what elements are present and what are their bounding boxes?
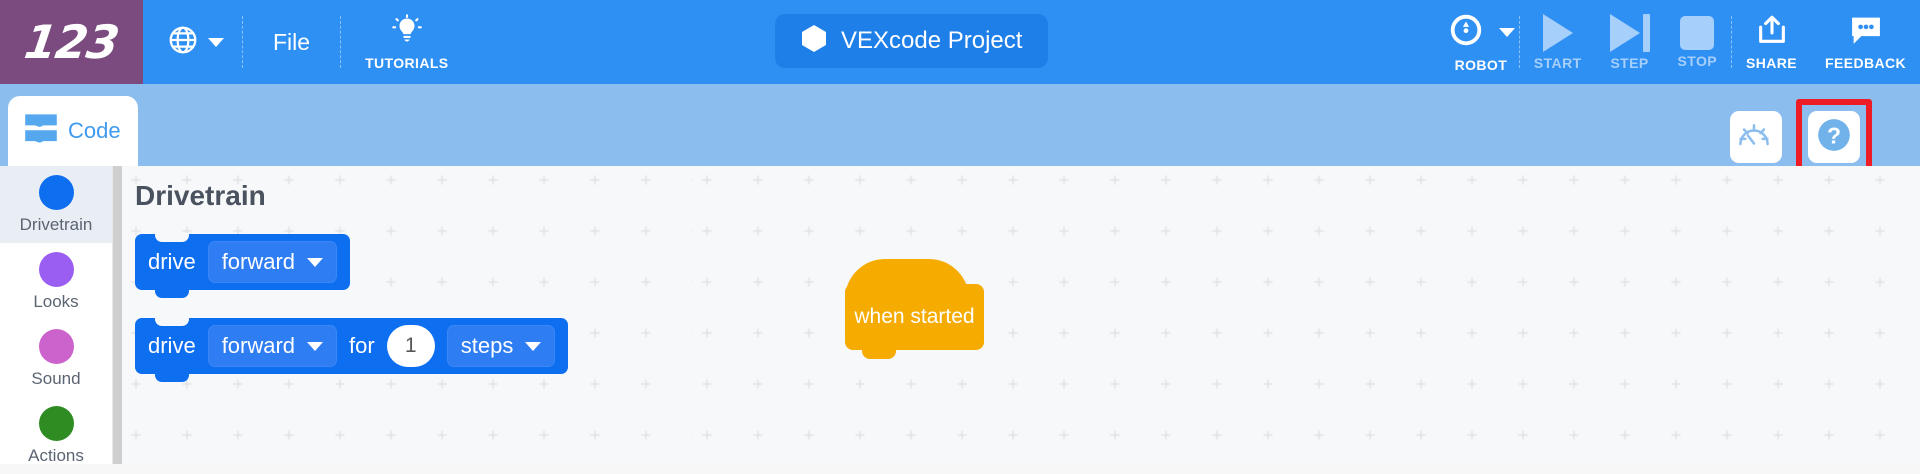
top-toolbar: 123 File <box>0 0 1920 84</box>
toolbar-controls: ROBOT START STEP STOP <box>1437 0 1920 84</box>
units-value: steps <box>461 333 514 359</box>
robot-button[interactable]: ROBOT <box>1437 0 1519 84</box>
category-label: Sound <box>31 369 80 389</box>
share-button[interactable]: SHARE <box>1732 0 1811 84</box>
category-color-dot <box>39 329 74 364</box>
units-dropdown[interactable]: steps <box>447 325 556 367</box>
category-actions[interactable]: Actions <box>0 397 112 474</box>
lightbulb-icon <box>390 14 424 53</box>
file-menu-label: File <box>273 29 310 56</box>
category-color-dot <box>39 175 74 210</box>
steps-amount-input[interactable]: 1 <box>387 325 435 367</box>
category-color-dot <box>39 252 74 287</box>
robot-icon <box>1447 11 1485 54</box>
stop-label: STOP <box>1678 53 1717 69</box>
share-label: SHARE <box>1746 55 1797 71</box>
block-when-started[interactable]: when started <box>845 284 984 350</box>
block-drive-forward[interactable]: drive forward <box>135 234 350 290</box>
hat-block-top <box>845 259 969 299</box>
play-icon <box>1543 14 1573 52</box>
direction-dropdown[interactable]: forward <box>208 241 337 283</box>
feedback-label: FEEDBACK <box>1825 55 1906 71</box>
for-label: for <box>349 333 375 359</box>
block-verb-label: drive <box>148 249 196 275</box>
file-menu[interactable]: File <box>243 0 340 84</box>
block-drive-for-steps[interactable]: drive forward for 1 steps <box>135 318 568 374</box>
chevron-down-icon <box>525 342 541 351</box>
secondary-toolbar: Code ? <box>0 84 1920 166</box>
palette-title: Drivetrain <box>135 180 266 212</box>
category-label: Drivetrain <box>20 215 93 235</box>
project-name: VEXcode Project <box>841 27 1022 55</box>
stop-button[interactable]: STOP <box>1664 0 1731 84</box>
category-label: Looks <box>33 292 78 312</box>
hat-block-notch <box>862 349 896 359</box>
chevron-down-icon <box>307 342 323 351</box>
direction-dropdown[interactable]: forward <box>208 325 337 367</box>
globe-icon <box>167 24 199 61</box>
stop-square-icon <box>1680 16 1714 50</box>
block-verb-label: drive <box>148 333 196 359</box>
tab-code[interactable]: Code <box>8 96 138 166</box>
tab-code-label: Code <box>68 118 121 144</box>
blocks-icon <box>24 113 58 150</box>
feedback-button[interactable]: FEEDBACK <box>1811 0 1920 84</box>
chevron-down-icon <box>307 258 323 267</box>
start-label: START <box>1534 55 1582 71</box>
category-label: Actions <box>28 446 84 466</box>
help-button[interactable]: ? <box>1808 111 1860 163</box>
project-title-button[interactable]: VEXcode Project <box>775 14 1048 68</box>
category-looks[interactable]: Looks <box>0 243 112 320</box>
question-mark-icon: ? <box>1815 116 1853 159</box>
tutorials-label: TUTORIALS <box>365 55 448 71</box>
direction-value: forward <box>222 333 295 359</box>
main-stage: Drivetrain Looks Sound Actions Drivetrai… <box>0 166 1920 464</box>
category-sidebar: Drivetrain Looks Sound Actions <box>0 166 113 464</box>
block-palette[interactable]: Drivetrain drive forward drive forward f… <box>113 166 693 464</box>
code-workspace[interactable]: when started <box>693 166 1920 464</box>
category-drivetrain[interactable]: Drivetrain <box>0 166 112 243</box>
hexagon-icon <box>801 24 827 58</box>
logo-text: 123 <box>21 15 122 69</box>
direction-value: forward <box>222 249 295 275</box>
robot-label: ROBOT <box>1455 57 1508 73</box>
category-sound[interactable]: Sound <box>0 320 112 397</box>
chevron-down-icon <box>208 38 224 47</box>
vex-123-logo: 123 <box>0 0 143 84</box>
when-started-label: when started <box>854 305 974 329</box>
start-button[interactable]: START <box>1520 0 1596 84</box>
category-color-dot <box>39 406 74 441</box>
step-button[interactable]: STEP <box>1596 0 1664 84</box>
language-selector[interactable] <box>143 0 242 84</box>
step-forward-icon <box>1610 14 1650 52</box>
dashboard-button[interactable] <box>1730 111 1782 163</box>
chevron-down-icon[interactable] <box>1499 28 1515 37</box>
comment-dots-icon <box>1847 13 1885 52</box>
svg-text:?: ? <box>1827 122 1841 148</box>
share-icon <box>1754 13 1790 52</box>
help-button-highlight: ? <box>1796 99 1872 175</box>
gauge-icon <box>1737 120 1775 155</box>
step-label: STEP <box>1610 55 1648 71</box>
tutorials-button[interactable]: TUTORIALS <box>341 0 472 84</box>
